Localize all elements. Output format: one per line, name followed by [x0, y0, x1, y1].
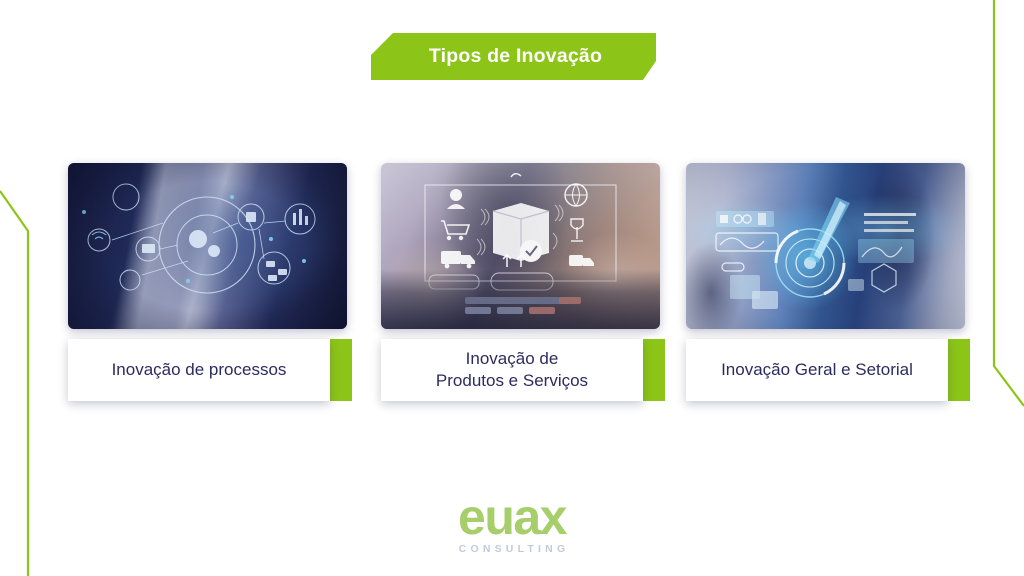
card-image-products-services [381, 163, 660, 329]
photo-tablet-keys [381, 163, 660, 329]
innovation-card[interactable]: Inovação de Produtos e Serviços [381, 163, 660, 401]
label-green-flag [948, 339, 970, 401]
card-label-text: Inovação de Produtos e Serviços [436, 348, 588, 392]
page-title: Tipos de Inovação [371, 33, 656, 80]
card-image-general-sectoral [686, 163, 965, 329]
label-green-flag [330, 339, 352, 401]
slide-title-banner: Tipos de Inovação [371, 33, 656, 80]
label-box: Inovação Geral e Setorial [686, 339, 948, 401]
card-label-plate: Inovação Geral e Setorial [686, 339, 965, 401]
innovation-card[interactable]: Inovação Geral e Setorial [686, 163, 965, 401]
card-image-processes [68, 163, 347, 329]
slide-canvas: Tipos de Inovação [0, 0, 1024, 576]
card-label-text: Inovação de processos [112, 359, 287, 381]
photo-vignette [686, 163, 965, 329]
logo-wordmark: euax [0, 492, 1024, 542]
right-corner-line [994, 0, 1024, 406]
card-label-plate: Inovação de processos [68, 339, 347, 401]
logo-tagline: CONSULTING [0, 542, 1024, 556]
label-green-flag [643, 339, 665, 401]
innovation-card[interactable]: Inovação de processos [68, 163, 347, 401]
euax-logo: euax CONSULTING [0, 492, 1024, 556]
label-box: Inovação de processos [68, 339, 330, 401]
photo-vignette [68, 163, 347, 329]
card-label-plate: Inovação de Produtos e Serviços [381, 339, 660, 401]
label-box: Inovação de Produtos e Serviços [381, 339, 643, 401]
card-label-text: Inovação Geral e Setorial [721, 359, 913, 381]
